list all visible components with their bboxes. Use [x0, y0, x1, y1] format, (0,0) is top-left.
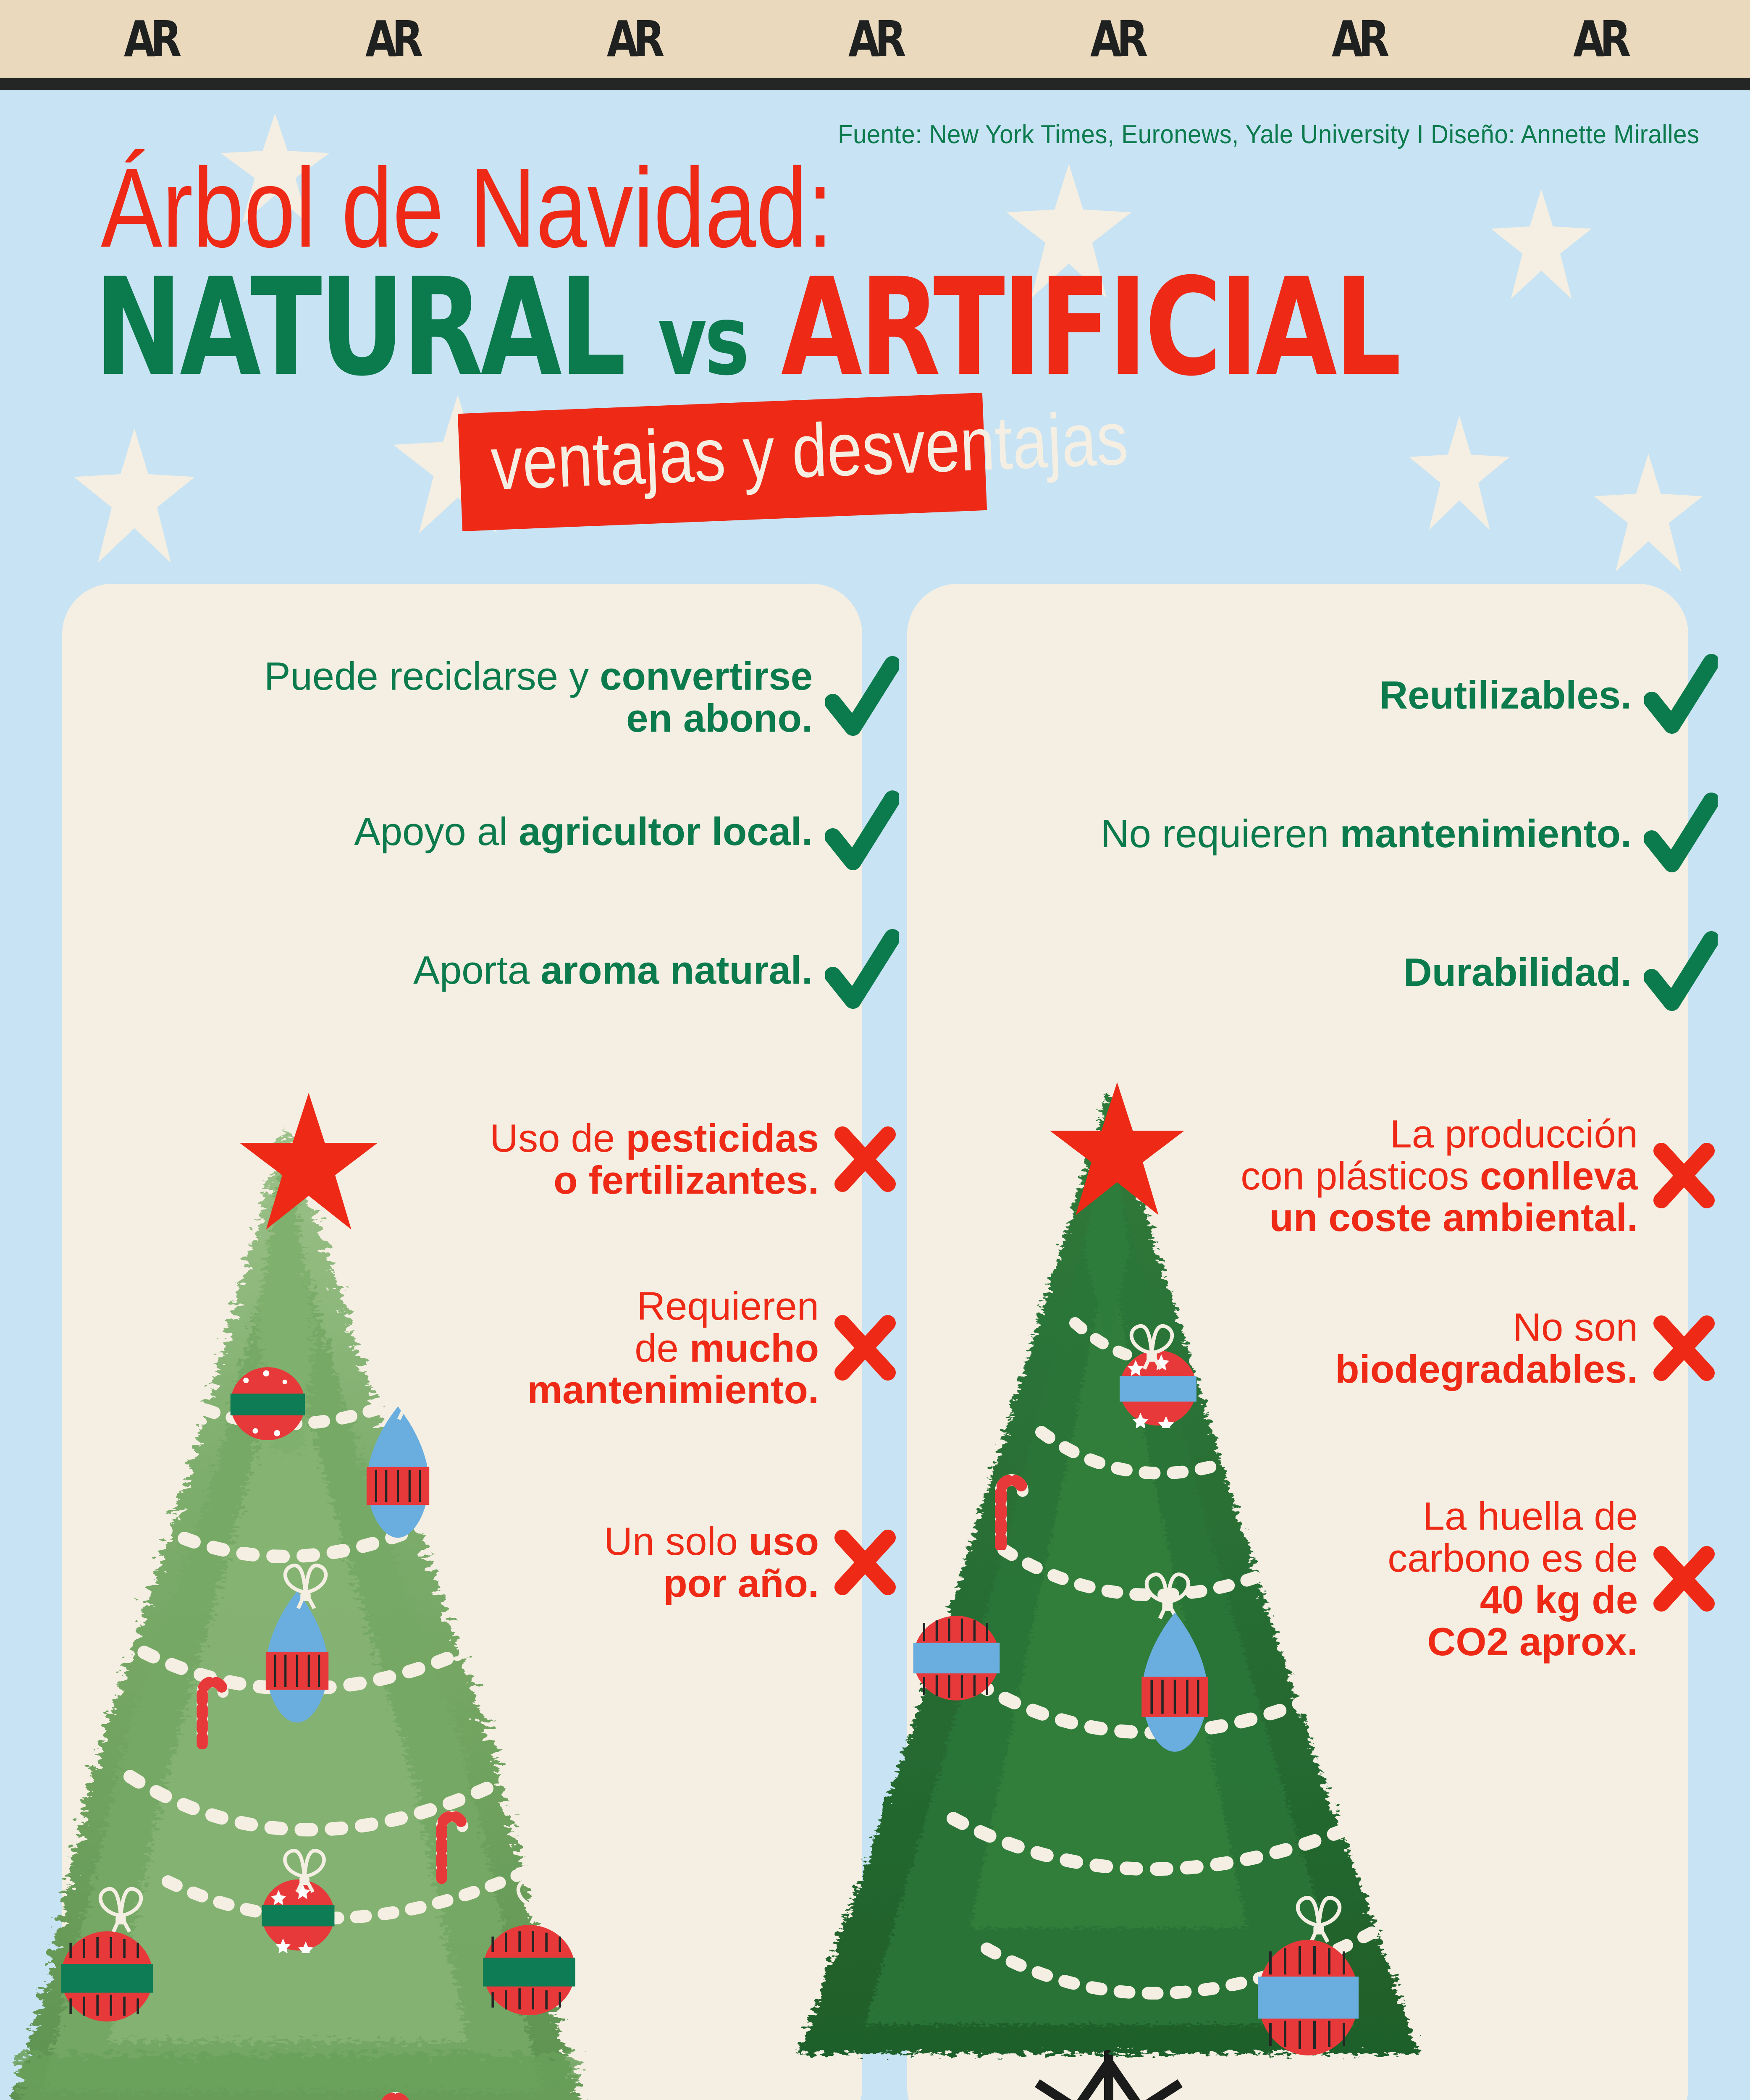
list-item-con: La huella de carbono es de 40 kg de CO2 … — [1176, 1495, 1718, 1663]
x-icon — [1650, 1543, 1718, 1614]
bow-bell — [269, 1554, 342, 1613]
candy-cane — [430, 1793, 470, 1884]
pro-text: Durabilidad. — [1404, 951, 1632, 993]
list-item-con: Requieren de mucho mantenimiento. — [361, 1285, 899, 1411]
decorative-star-icon — [1407, 416, 1512, 533]
bauble-red-green — [481, 1917, 577, 2018]
con-text: No son biodegradables. — [1335, 1306, 1638, 1390]
brand-logo-ar: AR — [607, 10, 660, 68]
bauble-red-blue — [1256, 1936, 1361, 2058]
tree-topper-star-icon — [235, 1090, 382, 1237]
bauble-red-green — [59, 1924, 155, 2024]
list-item-pro: Puede reciclarse y convertirse en abono. — [118, 655, 899, 739]
title-word-vs: vs — [658, 285, 747, 397]
check-icon — [825, 790, 899, 874]
brand-logo-ar: AR — [1332, 10, 1385, 68]
bow-bell — [84, 1877, 157, 1936]
pro-text: Apoyo al agricultor local. — [354, 811, 813, 853]
brand-logo-ar: AR — [848, 10, 901, 68]
decorative-star-icon — [1489, 189, 1594, 302]
list-item-pro: Apoyo al agricultor local. — [118, 790, 899, 874]
bow-bell — [939, 2045, 1012, 2100]
pro-text: No requieren mantenimiento. — [1101, 813, 1632, 855]
bauble-red-green — [229, 1361, 307, 1443]
brand-logo-ar: AR — [1573, 10, 1626, 68]
x-icon — [832, 1527, 899, 1598]
con-text: Un solo uso por año. — [604, 1520, 819, 1604]
x-icon — [1650, 1140, 1718, 1211]
brand-logo-ar: AR — [123, 10, 176, 68]
title-word-artificial: ARTIFICIAL — [781, 249, 1399, 405]
candy-cane — [989, 1457, 1031, 1550]
list-item-pro: Aporta aroma natural. — [118, 928, 899, 1012]
candy-cane — [374, 2075, 414, 2100]
check-icon — [1644, 653, 1718, 737]
candy-cane — [191, 1659, 231, 1749]
list-item-con: Uso de pesticidas o fertilizantes. — [361, 1117, 899, 1201]
check-icon — [825, 655, 899, 739]
check-icon — [825, 928, 899, 1012]
x-icon — [1650, 1312, 1718, 1384]
tree-topper-star-icon — [1046, 1079, 1189, 1222]
brand-bar-rule — [0, 78, 1750, 90]
x-icon — [832, 1312, 899, 1383]
brand-bar: AR AR AR AR AR AR AR — [0, 0, 1750, 78]
source-credit: Fuente: New York Times, Euronews, Yale U… — [838, 120, 1700, 150]
con-text: La huella de carbono es de 40 kg de CO2 … — [1388, 1495, 1638, 1663]
pro-text: Reutilizables. — [1379, 674, 1632, 716]
bauble-red-blue — [911, 1609, 1002, 1703]
con-text: La producción con plásticos conlleva un … — [1241, 1113, 1638, 1239]
con-text: Requieren de mucho mantenimiento. — [527, 1285, 819, 1411]
title-word-natural: NATURAL — [94, 249, 624, 405]
con-text: Uso de pesticidas o fertilizantes. — [490, 1117, 819, 1201]
decorative-star-icon — [1592, 454, 1705, 575]
decorative-star-icon — [71, 428, 197, 567]
x-icon — [832, 1123, 899, 1195]
list-item-con: No son biodegradables. — [1176, 1306, 1718, 1390]
list-item-pro: Reutilizables. — [949, 653, 1718, 737]
list-item-con: Un solo uso por año. — [361, 1520, 899, 1604]
list-item-pro: No requieren mantenimiento. — [949, 792, 1718, 876]
check-icon — [1644, 930, 1718, 1014]
brand-logo-ar: AR — [365, 10, 418, 68]
bow-bell — [502, 1869, 575, 1928]
bow-bell — [269, 1840, 340, 1896]
pro-text: Aporta aroma natural. — [413, 949, 813, 991]
page-title-main: NATURAL vs ARTIFICIAL — [94, 260, 1399, 395]
pro-text: Puede reciclarse y convertirse en abono. — [264, 655, 813, 739]
infographic-poster: AR AR AR AR AR AR AR Fuente: New York Ti… — [0, 0, 1750, 2100]
check-icon — [1644, 792, 1718, 876]
page-title-kicker: Árbol de Navidad: — [101, 151, 833, 264]
brand-logo-ar: AR — [1090, 10, 1143, 68]
list-item-pro: Durabilidad. — [949, 930, 1718, 1014]
list-item-con: La producción con plásticos conlleva un … — [1176, 1113, 1718, 1239]
